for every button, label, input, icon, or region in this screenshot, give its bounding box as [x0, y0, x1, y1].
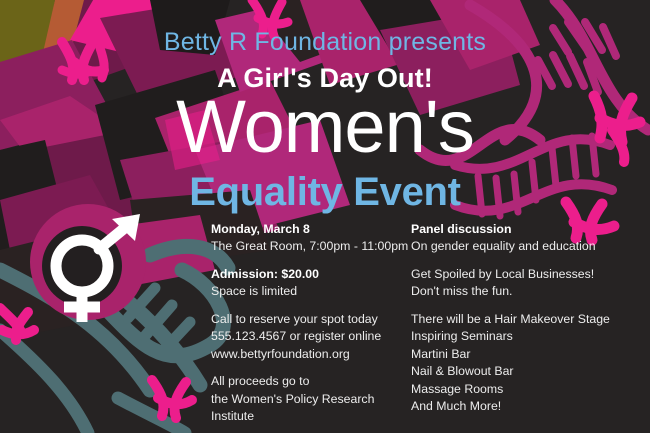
event-date: Monday, March 8	[211, 222, 310, 236]
event-proceeds-line-2: the Women's Policy Research Institute	[211, 391, 411, 426]
dont-miss-line: Don't miss the fun.	[411, 283, 641, 300]
feature-item: And Much More!	[411, 398, 641, 415]
event-details-left-column: Monday, March 8 The Great Room, 7:00pm -…	[211, 221, 411, 426]
feature-item: Massage Rooms	[411, 381, 641, 398]
event-headline: Women's	[0, 88, 650, 166]
feature-item: Nail & Blowout Bar	[411, 363, 641, 380]
event-accent-title: Equality Event	[0, 170, 650, 215]
panel-topic: On gender equality and education	[411, 238, 641, 255]
feature-item: There will be a Hair Makeover Stage	[411, 311, 641, 328]
event-details-right-column: Panel discussion On gender equality and …	[411, 221, 641, 416]
event-website[interactable]: www.bettyrfoundation.org	[211, 346, 411, 363]
spoiled-line: Get Spoiled by Local Businesses!	[411, 266, 641, 283]
event-phone-line: 555.123.4567 or register online	[211, 328, 411, 345]
event-admission: Admission: $20.00	[211, 267, 319, 281]
feature-item: Martini Bar	[411, 346, 641, 363]
event-poster: Betty R Foundation presents A Girl's Day…	[0, 0, 650, 433]
features-list: There will be a Hair Makeover Stage Insp…	[411, 311, 641, 416]
feature-item: Inspiring Seminars	[411, 328, 641, 345]
event-venue-time: The Great Room, 7:00pm - 11:00pm	[211, 238, 411, 255]
event-reserve-line: Call to reserve your spot today	[211, 311, 411, 328]
presenter-line: Betty R Foundation presents	[0, 28, 650, 57]
panel-heading: Panel discussion	[411, 222, 511, 236]
event-space-note: Space is limited	[211, 283, 411, 300]
event-proceeds-line-1: All proceeds go to	[211, 373, 411, 390]
